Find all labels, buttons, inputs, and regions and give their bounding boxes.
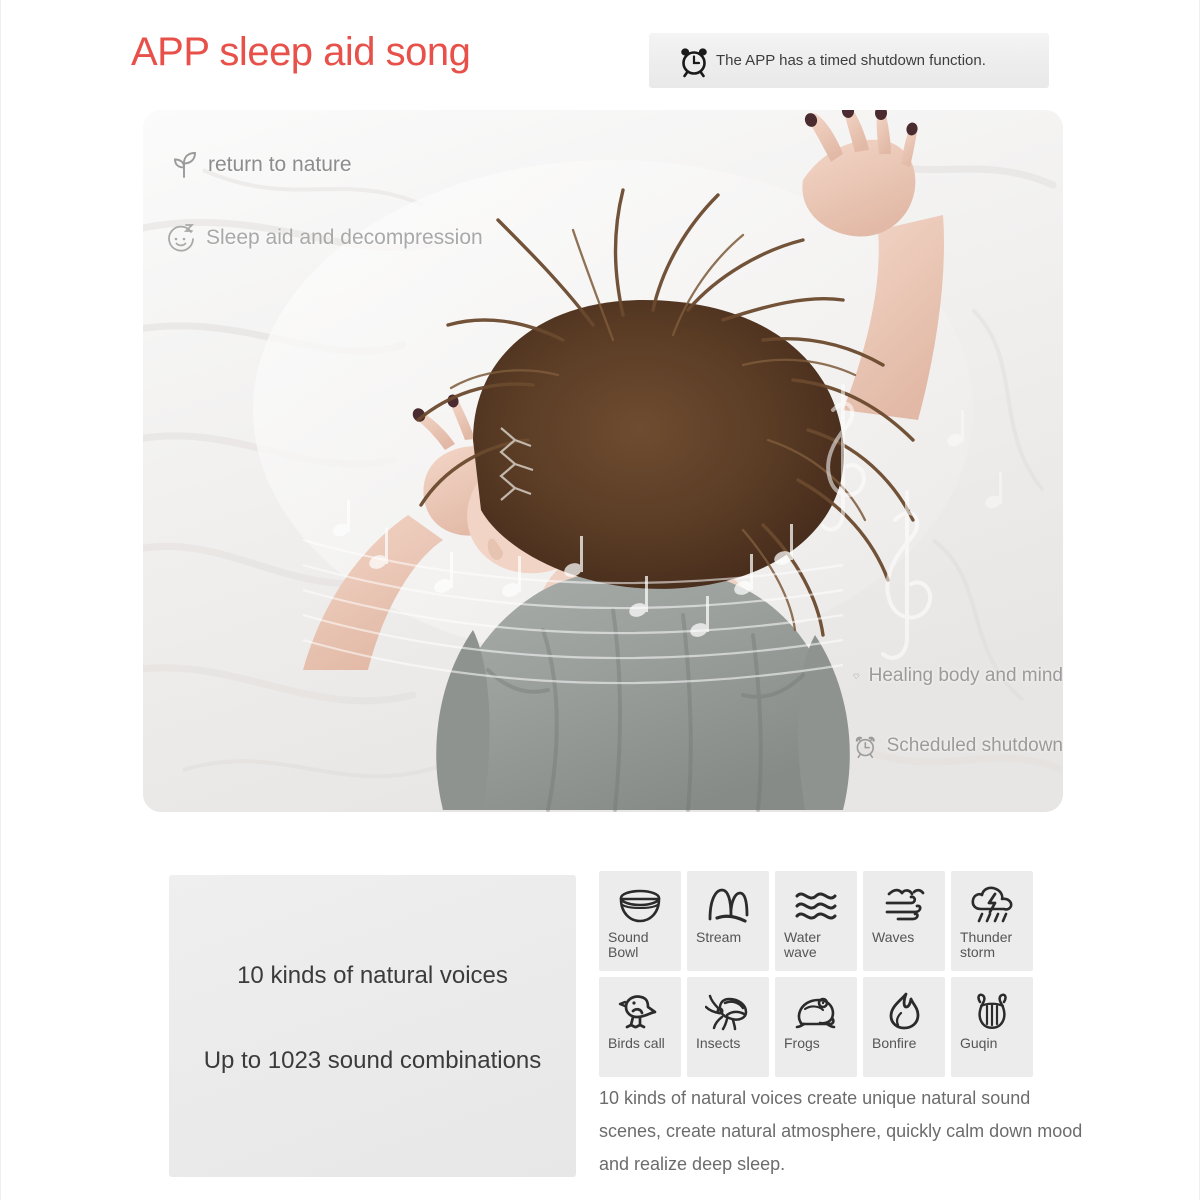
sound-tile-birds-call[interactable]: Birds call bbox=[599, 977, 681, 1077]
feature-summary-panel: 10 kinds of natural voices Up to 1023 so… bbox=[169, 875, 576, 1177]
guqin-icon bbox=[969, 988, 1015, 1034]
waves-wind-icon bbox=[881, 882, 927, 928]
alarm-clock-icon bbox=[853, 734, 878, 759]
sound-tile-frogs[interactable]: Frogs bbox=[775, 977, 857, 1077]
sound-description-text: 10 kinds of natural voices create unique… bbox=[599, 1082, 1094, 1181]
sound-tile-stream[interactable]: Stream bbox=[687, 871, 769, 971]
sprout-icon bbox=[169, 150, 199, 180]
sound-tile-insects[interactable]: Insects bbox=[687, 977, 769, 1077]
hero-photo: return to nature Sleep aid and decompres… bbox=[143, 110, 1063, 812]
frog-icon bbox=[793, 988, 839, 1034]
sound-tile-label: Stream bbox=[687, 930, 769, 945]
sound-grid-row: SoundBowl Stream bbox=[599, 871, 1039, 971]
sound-grid-row: Birds call Insects bbox=[599, 977, 1039, 1077]
sound-bowl-icon bbox=[617, 882, 663, 928]
overlay-healing: Healing body and mind bbox=[853, 665, 1063, 687]
sound-tile-bonfire[interactable]: Bonfire bbox=[863, 977, 945, 1077]
water-wave-icon bbox=[793, 882, 839, 928]
sound-type-grid: SoundBowl Stream bbox=[599, 871, 1039, 1083]
bird-icon bbox=[617, 988, 663, 1034]
feature-line-combinations: Up to 1023 sound combinations bbox=[169, 1047, 576, 1075]
overlay-return-to-nature: return to nature bbox=[169, 150, 352, 180]
sound-tile-label: Guqin bbox=[951, 1036, 1033, 1051]
timed-shutdown-badge: The APP has a timed shutdown function. bbox=[649, 33, 1049, 88]
insect-icon bbox=[705, 988, 751, 1034]
sleeping-woman-illustration bbox=[143, 110, 1063, 812]
sound-tile-sound-bowl[interactable]: SoundBowl bbox=[599, 871, 681, 971]
sound-tile-label: Waves bbox=[863, 930, 945, 945]
alarm-clock-icon bbox=[677, 44, 711, 78]
overlay-label: return to nature bbox=[208, 153, 352, 177]
overlay-scheduled-shutdown: Scheduled shutdown bbox=[853, 734, 1063, 759]
heart-icon bbox=[853, 673, 860, 679]
sound-tile-guqin[interactable]: Guqin bbox=[951, 977, 1033, 1077]
sound-tile-label: Bonfire bbox=[863, 1036, 945, 1051]
overlay-label: Scheduled shutdown bbox=[887, 735, 1063, 757]
thunder-storm-icon bbox=[969, 882, 1015, 928]
product-detail-page: APP sleep aid song The APP has a timed s… bbox=[0, 0, 1200, 1200]
sound-tile-label: SoundBowl bbox=[599, 930, 681, 960]
page-title: APP sleep aid song bbox=[131, 30, 470, 75]
overlay-label: Healing body and mind bbox=[869, 665, 1063, 687]
sound-tile-water-wave[interactable]: Waterwave bbox=[775, 871, 857, 971]
feature-line-natural-voices: 10 kinds of natural voices bbox=[169, 962, 576, 990]
overlay-sleep-aid: Sleep aid and decompression bbox=[165, 222, 483, 254]
sound-tile-label: Insects bbox=[687, 1036, 769, 1051]
stream-icon bbox=[705, 882, 751, 928]
sleeping-face-icon bbox=[165, 222, 197, 254]
sound-tile-label: Waterwave bbox=[775, 930, 857, 960]
overlay-label: Sleep aid and decompression bbox=[206, 226, 483, 250]
badge-label: The APP has a timed shutdown function. bbox=[716, 52, 986, 69]
bonfire-icon bbox=[881, 988, 927, 1034]
sound-tile-label: Frogs bbox=[775, 1036, 857, 1051]
sound-tile-waves[interactable]: Waves bbox=[863, 871, 945, 971]
sound-tile-label: Birds call bbox=[599, 1036, 681, 1051]
sound-tile-thunder-storm[interactable]: Thunderstorm bbox=[951, 871, 1033, 971]
sound-tile-label: Thunderstorm bbox=[951, 930, 1033, 960]
